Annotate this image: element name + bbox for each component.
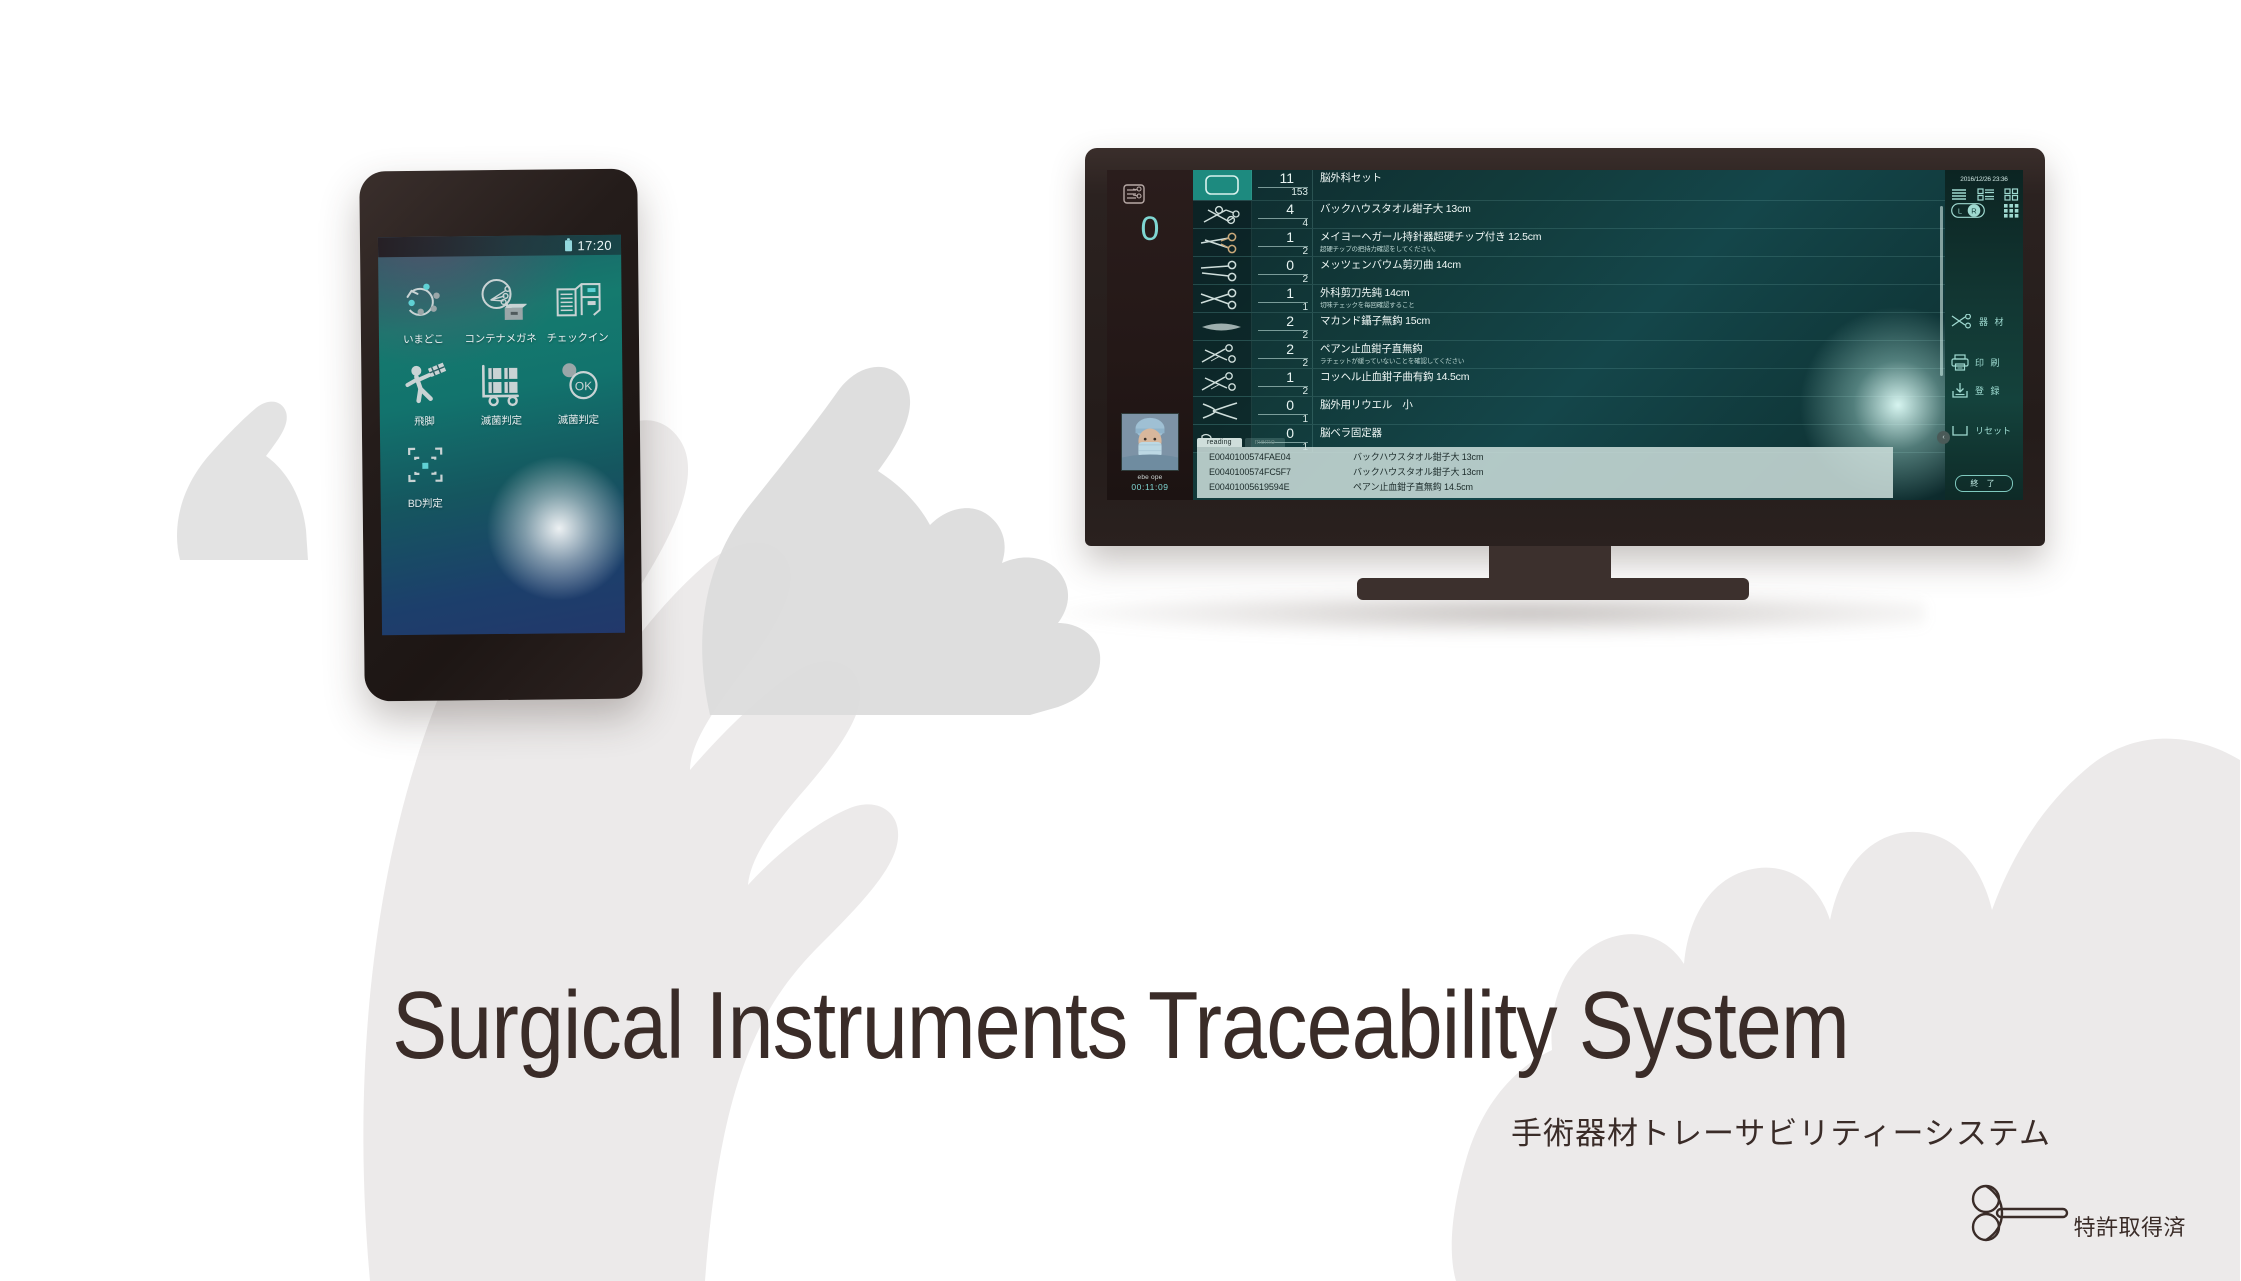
row-count: 2 [1286, 342, 1294, 356]
row-note: 切味チェックを毎回確認すること [1320, 302, 1939, 310]
row-text-cell: 脳外科セット [1313, 170, 1945, 200]
reading-tabs: reading memo [1197, 436, 1893, 447]
svg-text:R: R [1971, 207, 1977, 216]
row-icon-cell[interactable] [1193, 313, 1252, 340]
app-label: 飛脚 [414, 414, 435, 429]
table-row[interactable]: 2 2 ペアン止血鉗子直無鈎 ラチェットが緩っていないことを確認してください [1193, 341, 1945, 369]
row-count-cell: 11 153 [1252, 170, 1313, 200]
scissors-icon [1951, 314, 1973, 329]
runner-icon [398, 361, 450, 410]
metzenbaum-icon [1199, 260, 1245, 282]
row-count-cell: 2 2 [1252, 341, 1313, 368]
side-panel: 2016/12/26 23:36 [1945, 170, 2023, 500]
desktop-monitor: 0 ebe ope 00:11:09 [1085, 148, 2045, 588]
kizai-label: 器 材 [1979, 315, 2006, 328]
end-button[interactable]: 終 了 [1955, 475, 2013, 492]
row-icon-cell[interactable] [1193, 201, 1252, 228]
reset-icon [1951, 425, 1969, 437]
row-icon-cell[interactable] [1193, 229, 1252, 256]
smartphone-device: 17:20 いまどこ [359, 169, 643, 702]
list-item: E0040100574FC5F7 バックハウスタオル鉗子大 13cm [1209, 465, 1893, 480]
pean-clamp-icon [1199, 344, 1245, 366]
app-icon-sterile-cart[interactable]: 滅菌判定 [462, 360, 540, 429]
app-icon-imadoko[interactable]: いまどこ [384, 278, 462, 347]
phone-pointing-finger [140, 330, 320, 560]
row-total: 153 [1291, 187, 1308, 199]
table-row[interactable]: 11 153 脳外科セット [1193, 170, 1945, 201]
count-divider [1258, 274, 1308, 275]
app-icon-hikyaku[interactable]: 飛脚 [385, 360, 463, 429]
entry-name: ペアン止血鉗子直無鈎 14.5cm [1353, 480, 1473, 495]
app-icon-container[interactable]: コンテナメガネ [461, 278, 539, 347]
entry-code: E0040100574FAE04 [1209, 450, 1341, 465]
needle-holder-icon [1199, 232, 1245, 254]
row-text-cell: メッツェンバウム剪刃曲 14cm [1313, 257, 1945, 284]
row-text-cell: ペアン止血鉗子直無鈎 ラチェットが緩っていないことを確認してください [1313, 341, 1945, 368]
row-text-cell: バックハウスタオル鉗子大 13cm [1313, 201, 1945, 228]
row-count: 1 [1286, 286, 1294, 300]
row-text-cell: 脳外用リウエル 小 [1313, 397, 1945, 424]
app-label: BD判定 [408, 496, 443, 511]
patent-badge: 特許取得済 [1969, 1182, 2186, 1244]
row-note: ラチェットが緩っていないことを確認してください [1320, 358, 1939, 366]
count-divider [1258, 246, 1308, 247]
list-item: E0040100574FAE04 バックハウスタオル鉗子大 13cm [1209, 450, 1893, 465]
table-row[interactable]: 1 1 外科剪刀先鈍 14cm 切味チェックを毎回確認すること [1193, 285, 1945, 313]
save-icon [1951, 382, 1969, 399]
forceps-icon [1199, 316, 1245, 338]
row-name: コッヘル止血鉗子曲有鈎 14.5cm [1320, 371, 1939, 384]
row-name: マカンド鑷子無鈎 15cm [1320, 315, 1939, 328]
print-label: 印 刷 [1975, 356, 2002, 369]
app-label: 滅菌判定 [481, 413, 522, 428]
rail-user-timer: 00:11:09 [1121, 482, 1179, 492]
battery-icon [565, 240, 572, 251]
row-count: 0 [1286, 258, 1294, 272]
datetime-display: 2016/12/26 23:36 [1945, 176, 2023, 183]
row-text-cell: メイヨーヘガール持針器超硬チップ付き 12.5cm 超硬チップの把持力確認をして… [1313, 229, 1945, 256]
grid3-view-icon[interactable] [2004, 204, 2019, 218]
count-divider [1258, 386, 1308, 387]
count-divider [1258, 358, 1308, 359]
entry-name: バックハウスタオル鉗子大 13cm [1353, 465, 1483, 480]
count-divider [1258, 330, 1308, 331]
row-icon-cell[interactable] [1193, 285, 1252, 312]
monitor-screen[interactable]: 0 ebe ope 00:11:09 [1107, 170, 2023, 500]
row-count: 4 [1286, 202, 1294, 216]
phone-screen[interactable]: 17:20 いまどこ [378, 235, 625, 636]
view-mode-icons [1951, 188, 2019, 201]
row-name: 脳外科セット [1320, 172, 1939, 185]
row-icon-cell[interactable] [1193, 257, 1252, 284]
tray-rect-icon [1205, 175, 1239, 195]
lr-toggle[interactable]: L R [1951, 203, 1985, 218]
reading-panel: reading memo E0040100574FAE04 バックハウスタオル鉗… [1197, 436, 1893, 500]
row-count: 1 [1286, 370, 1294, 384]
count-divider [1258, 218, 1308, 219]
row-name: 外科剪刀先鈍 14cm [1320, 287, 1939, 300]
entry-code: E0040100574FC5F7 [1209, 465, 1341, 480]
kocher-clamp-icon [1199, 372, 1245, 394]
row-name: バックハウスタオル鉗子大 13cm [1320, 203, 1939, 216]
row-count-cell: 1 2 [1252, 369, 1313, 396]
list-scrollbar[interactable] [1940, 206, 1943, 376]
row-name: メイヨーヘガール持針器超硬チップ付き 12.5cm [1320, 231, 1939, 244]
monitor-stand-base [1357, 578, 1749, 600]
detail-view-icon[interactable] [1977, 188, 1995, 201]
row-count: 0 [1286, 398, 1294, 412]
left-rail: 0 ebe ope 00:11:09 [1107, 170, 1193, 500]
svg-text:L: L [1958, 207, 1962, 216]
table-row[interactable]: 0 2 メッツェンバウム剪刃曲 14cm [1193, 257, 1945, 285]
count-divider [1258, 302, 1308, 303]
table-row[interactable]: 4 4 バックハウスタオル鉗子大 13cm [1193, 201, 1945, 229]
row-count-cell: 0 2 [1252, 257, 1313, 284]
row-count-cell: 1 1 [1252, 285, 1313, 312]
row-text-cell: コッヘル止血鉗子曲有鈎 14.5cm [1313, 369, 1945, 396]
table-row[interactable]: 1 2 コッヘル止血鉗子曲有鈎 14.5cm [1193, 369, 1945, 397]
app-label: チェックイン [547, 330, 609, 346]
list-item: E00401005619594E ペアン止血鉗子直無鈎 14.5cm [1209, 480, 1893, 495]
count-divider [1258, 414, 1308, 415]
rongeur-icon [1199, 400, 1245, 422]
row-count-cell: 0 1 [1252, 397, 1313, 424]
row-count: 2 [1286, 314, 1294, 328]
magnifier-container-icon [474, 278, 526, 327]
app-label: コンテナメガネ [464, 331, 536, 347]
entry-name: バックハウスタオル鉗子大 13cm [1353, 450, 1483, 465]
phone-status-bar: 17:20 [378, 235, 621, 258]
row-icon-cell[interactable] [1193, 341, 1252, 368]
surgeon-photo [1121, 413, 1179, 471]
row-name: メッツェンバウム剪刃曲 14cm [1320, 259, 1939, 272]
list-view-icon[interactable] [1951, 188, 1967, 201]
row-name: ペアン止血鉗子直無鈎 [1320, 343, 1939, 356]
page-subtitle: 手術器材トレーサビリティーシステム [1511, 1108, 2051, 1153]
rail-counter: 0 [1107, 212, 1193, 246]
ok-badge-icon: OK [552, 359, 604, 408]
printer-icon [1951, 354, 1969, 371]
end-label: 終 了 [1970, 478, 1997, 489]
table-row[interactable]: 1 2 メイヨーヘガール持針器超硬チップ付き 12.5cm 超硬チップの把持力確… [1193, 229, 1945, 257]
row-name: 脳外用リウエル 小 [1320, 399, 1939, 412]
grid2-view-icon[interactable] [2004, 188, 2019, 201]
app-icon-checkin[interactable]: チェックイン [538, 277, 616, 346]
rail-user-name: ebe ope [1121, 474, 1179, 481]
reading-entries: E0040100574FAE04 バックハウスタオル鉗子大 13cm E0040… [1197, 447, 1893, 498]
app-label: 滅菌判定 [558, 412, 599, 427]
collapse-handle[interactable]: ‹ [1937, 431, 1950, 444]
app-icon-sterile-ok[interactable]: OK 滅菌判定 [539, 359, 617, 428]
row-icon-cell[interactable] [1193, 170, 1252, 200]
reset-label: リセット [1975, 424, 2011, 437]
cart-icon [475, 360, 527, 409]
patent-label: 特許取得済 [2073, 1210, 2186, 1244]
table-row[interactable]: 0 1 脳外用リウエル 小 [1193, 397, 1945, 425]
entry-code: E00401005619594E [1209, 480, 1341, 495]
row-count-cell: 2 2 [1252, 313, 1313, 340]
towel-clamp-icon [1200, 204, 1244, 226]
row-count: 1 [1286, 230, 1294, 244]
lr-toggle-row: L R [1951, 203, 2019, 218]
phone-app-grid: いまどこ コンテナメガネ [378, 269, 623, 512]
svg-text:OK: OK [574, 379, 591, 393]
row-icon-cell[interactable] [1193, 369, 1252, 396]
regist-button[interactable]: 登 録 [1951, 382, 2002, 399]
checkin-list-icon [551, 277, 603, 326]
phone-clock: 17:20 [577, 237, 612, 252]
row-count: 11 [1279, 171, 1294, 185]
row-count-cell: 4 4 [1252, 201, 1313, 228]
tab-memo[interactable]: memo [1245, 438, 1285, 447]
bd-square-icon [399, 443, 451, 492]
cycle-tracking-icon [397, 279, 449, 328]
row-count-cell: 1 2 [1252, 229, 1313, 256]
instrument-tray-icon [1122, 182, 1146, 206]
regist-label: 登 録 [1975, 384, 2002, 397]
kizai-button[interactable]: 器 材 [1951, 314, 2006, 329]
app-label: いまどこ [403, 332, 444, 347]
page-title: Surgical Instruments Traceability System [157, 978, 2084, 1074]
app-icon-bd[interactable]: BD判定 [386, 442, 464, 511]
row-note: 超硬チップの把持力確認をしてください。 [1320, 246, 1939, 254]
surgical-scissors-icon [1199, 288, 1245, 310]
tab-reading[interactable]: reading [1197, 438, 1242, 447]
reset-button[interactable]: リセット [1951, 424, 2011, 437]
row-text-cell: 外科剪刀先鈍 14cm 切味チェックを毎回確認すること [1313, 285, 1945, 312]
rail-user-block: ebe ope 00:11:09 [1121, 413, 1179, 492]
row-text-cell: マカンド鑷子無鈎 15cm [1313, 313, 1945, 340]
scissors-patent-icon [1969, 1182, 2069, 1244]
print-button[interactable]: 印 刷 [1951, 354, 2002, 371]
table-row[interactable]: 2 2 マカンド鑷子無鈎 15cm [1193, 313, 1945, 341]
row-icon-cell[interactable] [1193, 397, 1252, 424]
instrument-list[interactable]: 11 153 脳外科セット [1193, 170, 1945, 500]
